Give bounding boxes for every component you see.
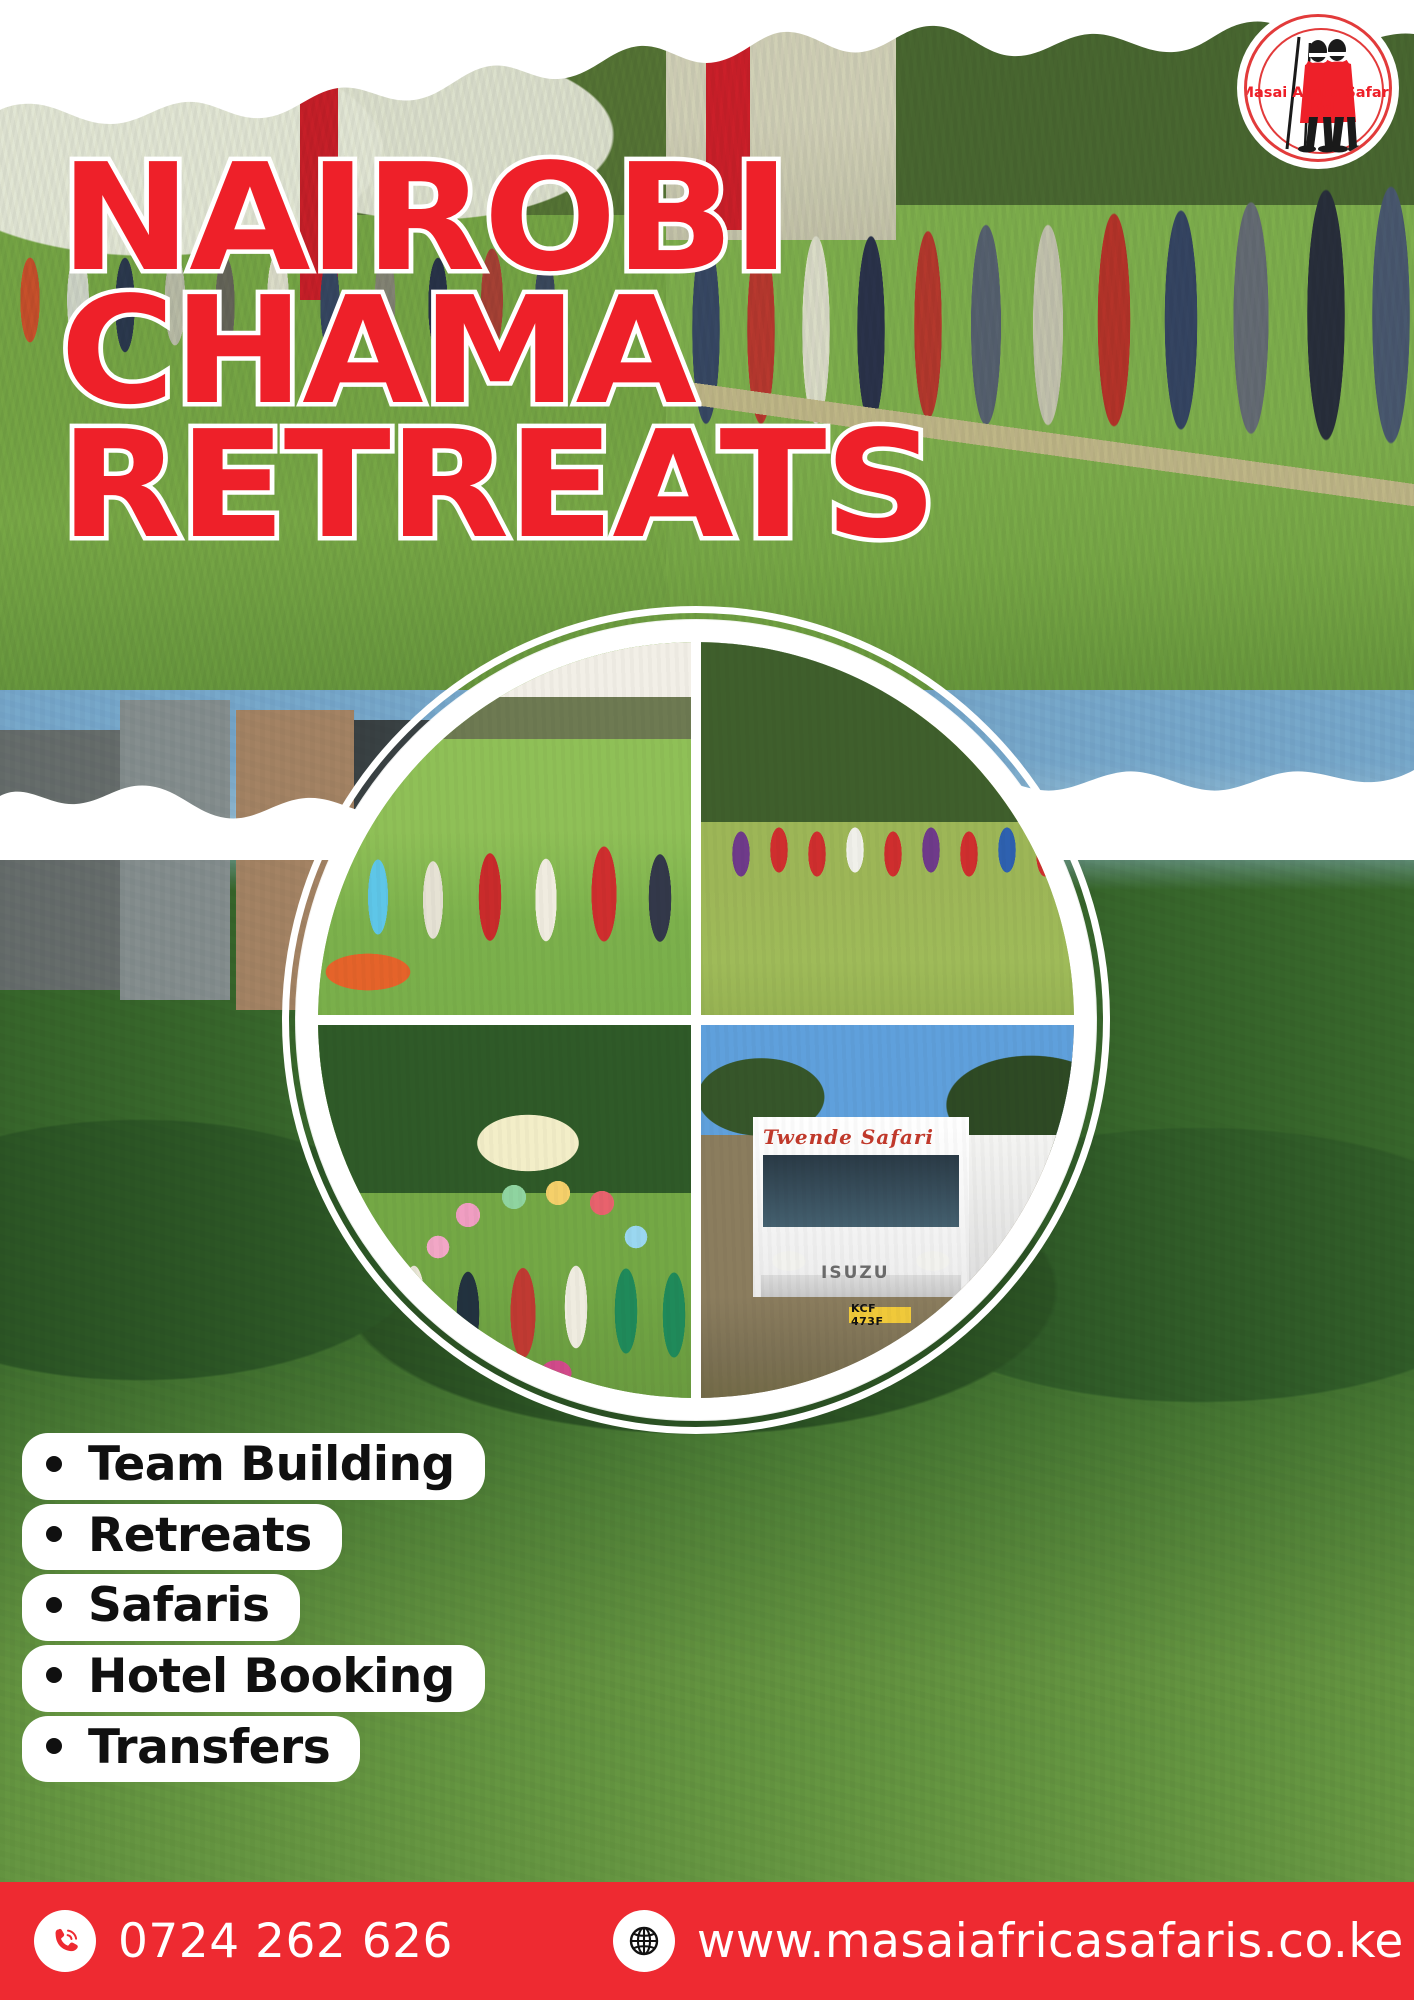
headline-line-3: RETREATS [60,422,935,549]
bullet-icon [46,1667,62,1683]
phone-number: 0724 262 626 [118,1914,453,1969]
service-label: Hotel Booking [88,1649,455,1704]
phone-icon [34,1910,96,1972]
service-item-transfers: Transfers [22,1716,360,1783]
bus-number-plate: KCF 473F [851,1307,911,1323]
poster-root: NAIROBI CHAMA RETREATS [0,0,1414,2000]
bullet-icon [46,1526,62,1542]
service-label: Team Building [88,1437,455,1492]
safari-buses-photo: Twende Safari ISUZU KCF 473F [701,1025,1074,1398]
service-label: Transfers [88,1720,330,1775]
bullet-icon [46,1597,62,1613]
warm-up-exercise-photo [318,642,691,1015]
logo-brand-line-1: Masai Africa Safaris [1247,85,1392,101]
bus-script-text: Twende Safari [763,1125,934,1149]
logo-brand-line-2: Ltd [1308,101,1335,117]
bus-brand-text: ISUZU [821,1263,890,1283]
website-url: www.masaiafricasafaris.co.ke [697,1914,1404,1969]
phone-contact[interactable]: 0724 262 626 [34,1910,453,1972]
service-label: Retreats [88,1508,312,1563]
headline-line-1: NAIROBI [60,155,935,282]
parachute-game-photo [318,1025,691,1398]
website-contact[interactable]: www.masaiafricasafaris.co.ke [613,1910,1404,1972]
group-photo [701,642,1074,1015]
service-label: Safaris [88,1578,270,1633]
service-item-team-building: Team Building [22,1433,485,1500]
service-item-hotel-booking: Hotel Booking [22,1645,485,1712]
service-item-safaris: Safaris [22,1574,300,1641]
collage-grid: Twende Safari ISUZU KCF 473F [318,642,1074,1398]
services-list: Team Building Retreats Safaris Hotel Boo… [22,1433,485,1782]
globe-icon [613,1910,675,1972]
footer-contact-bar: 0724 262 626 www.masaiafricasafaris.co.k… [0,1882,1414,2000]
headline-line-2: CHAMA [60,288,935,415]
circular-photo-collage: Twende Safari ISUZU KCF 473F [296,620,1096,1420]
bullet-icon [46,1456,62,1472]
poster-headline: NAIROBI CHAMA RETREATS [60,155,886,555]
bullet-icon [46,1738,62,1754]
masai-africa-safaris-logo[interactable]: Masai Africa Safaris Ltd [1244,14,1392,162]
service-item-retreats: Retreats [22,1504,342,1571]
